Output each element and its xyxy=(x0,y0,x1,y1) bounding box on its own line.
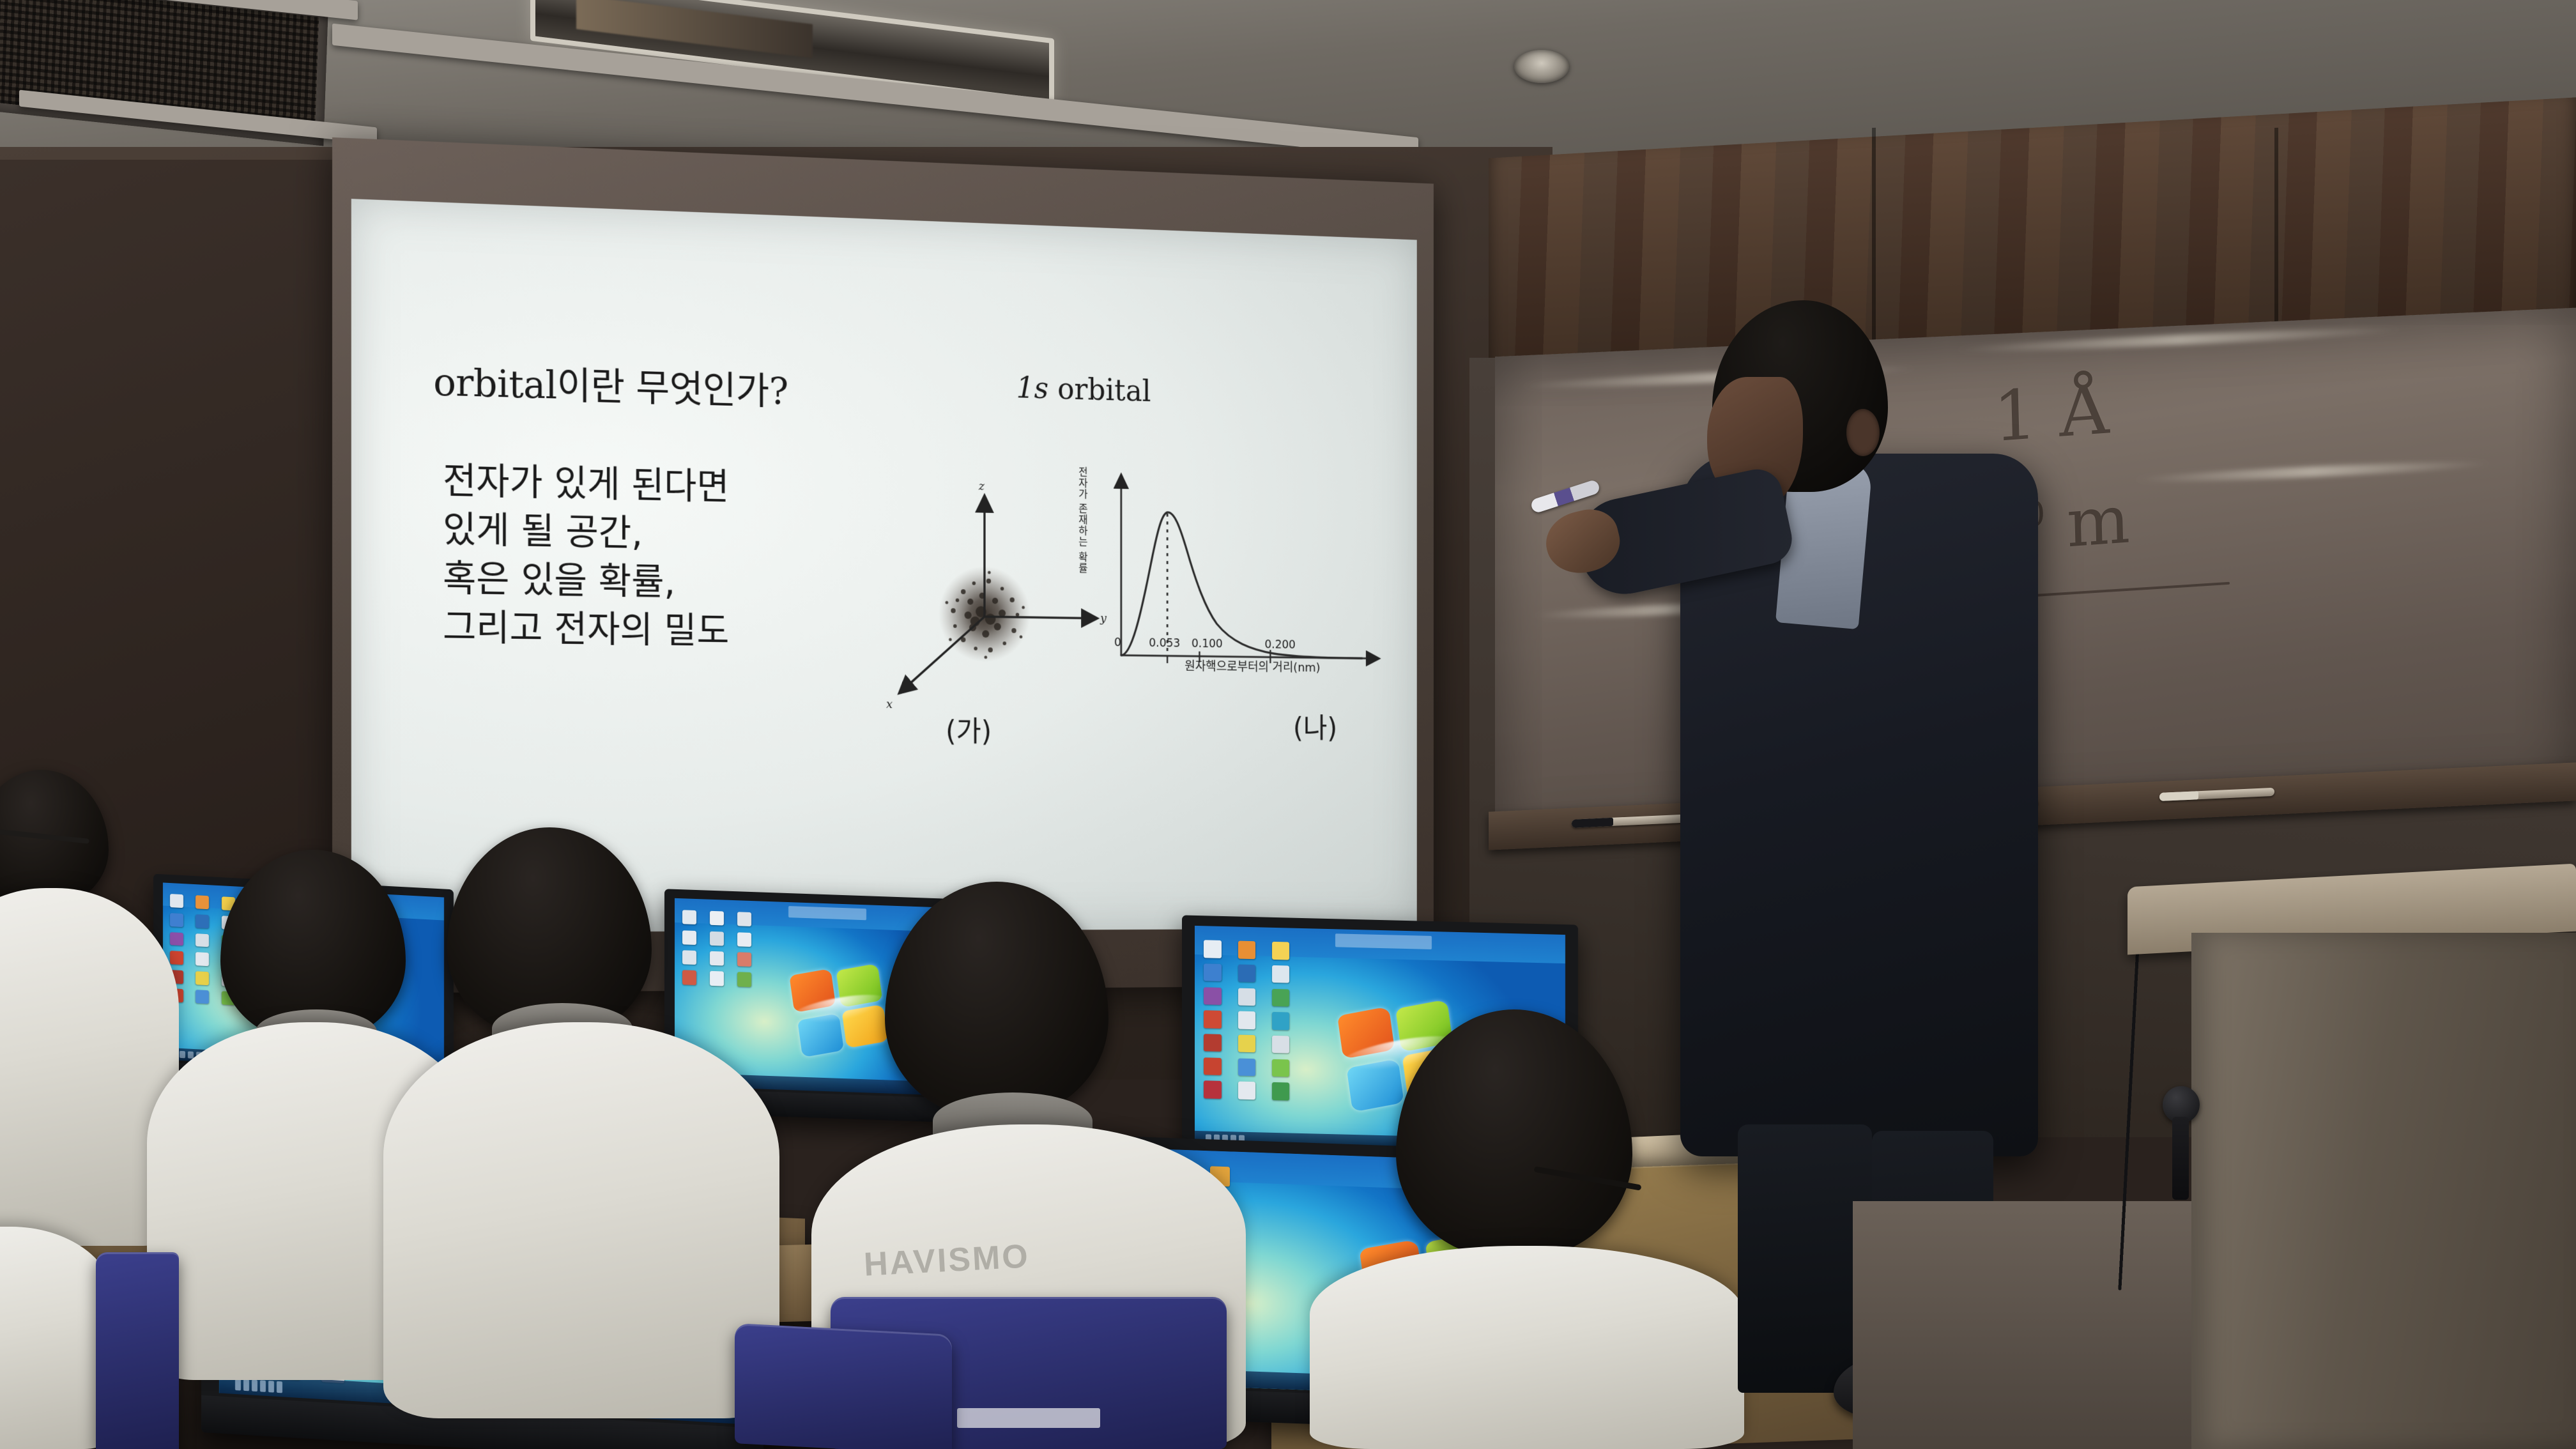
figure-probability-chart xyxy=(1080,453,1400,731)
figure-title-orbital-number: 1s xyxy=(1016,371,1049,406)
desktop-icon[interactable] xyxy=(1238,988,1255,1006)
desktop-icon[interactable] xyxy=(710,971,724,986)
desktop-icon[interactable] xyxy=(1272,942,1289,960)
svg-text:x: x xyxy=(886,698,893,711)
desktop-icon[interactable] xyxy=(737,952,751,967)
desktop-icon[interactable] xyxy=(195,895,209,909)
desktop-icon[interactable] xyxy=(170,894,183,908)
chair-tag xyxy=(957,1408,1100,1428)
desktop-icon[interactable] xyxy=(1238,941,1255,959)
desktop-icon[interactable] xyxy=(710,911,724,926)
desktop-icon[interactable] xyxy=(1204,1081,1221,1099)
desktop-icon[interactable] xyxy=(195,971,209,985)
desktop-icon[interactable] xyxy=(682,930,696,945)
desktop-icon[interactable] xyxy=(1238,1011,1255,1029)
desktop-icon[interactable] xyxy=(710,931,724,946)
figure-title-rest: orbital xyxy=(1048,371,1151,408)
desktop-icon[interactable] xyxy=(1204,987,1221,1005)
desktop-icon[interactable] xyxy=(737,972,751,987)
slide-body: 전자가 있게 된다면 있게 될 공간, 혹은 있을 확률, 그리고 전자의 밀도 xyxy=(443,456,729,655)
desktop-icon[interactable] xyxy=(1204,1034,1221,1052)
slide-body-line: 전자가 있게 된다면 xyxy=(443,456,729,511)
desktop-icon[interactable] xyxy=(1272,1059,1289,1077)
desktop-icon[interactable] xyxy=(1238,1082,1255,1100)
svg-text:z: z xyxy=(978,479,985,493)
windows-logo-icon xyxy=(790,960,889,1058)
desktop-icon[interactable] xyxy=(682,970,696,985)
slide-body-line: 있게 될 공간, xyxy=(443,505,729,560)
whiteboard-note-value-unit: m xyxy=(2044,480,2131,563)
chart-x-tick-2: 0.100 xyxy=(1192,637,1223,651)
light-slot-glow xyxy=(576,0,813,58)
desktop-icon[interactable] xyxy=(195,952,209,966)
whiteboard-note-angstrom: 1 Å xyxy=(1992,370,2110,458)
podium xyxy=(2191,933,2576,1449)
desktop-icon-grid[interactable] xyxy=(1200,933,1304,1142)
slide-body-line: 그리고 전자의 밀도 xyxy=(443,603,729,655)
whiteboard-glare xyxy=(2134,459,2492,485)
desktop-icon[interactable] xyxy=(682,950,696,965)
desktop-icon[interactable] xyxy=(1272,1036,1289,1054)
projected-slide: orbital이란 무엇인가? 전자가 있게 된다면 있게 될 공간, 혹은 있… xyxy=(351,199,1417,933)
slide-body-line: 혹은 있을 확률, xyxy=(443,554,729,607)
chair[interactable] xyxy=(96,1252,179,1449)
chair[interactable] xyxy=(735,1323,952,1449)
microphone-handle[interactable] xyxy=(2172,1117,2189,1200)
desktop-icon[interactable] xyxy=(170,951,183,965)
desktop-icon[interactable] xyxy=(1272,988,1289,1006)
chart-y-axis-label: 전자가 존재하는 확률 xyxy=(1075,466,1089,574)
chart-x-axis-label: 원자핵으로부터의 거리(nm) xyxy=(1184,656,1320,675)
chair-strap-label: HAVISMO xyxy=(862,1237,1031,1284)
desktop-icon[interactable] xyxy=(1204,1057,1221,1075)
figure-caption-b: (나) xyxy=(1293,706,1337,746)
leg xyxy=(1738,1124,1872,1393)
desktop-icon[interactable] xyxy=(195,990,209,1004)
torso xyxy=(1310,1246,1744,1449)
desktop-icon[interactable] xyxy=(1272,1082,1289,1100)
desktop-icon[interactable] xyxy=(1238,1035,1255,1053)
chart-x-tick-3: 0.200 xyxy=(1264,638,1295,651)
chart-x-tick-1: 0.053 xyxy=(1149,636,1180,650)
classroom-scene: 1 Å 1.6×10-10 m orbital이란 무엇인가? 전자가 있게 된… xyxy=(0,0,2576,1449)
torso xyxy=(383,1022,779,1418)
marker-cap xyxy=(1572,818,1613,828)
desktop-icon[interactable] xyxy=(170,913,183,927)
desktop-icon[interactable] xyxy=(710,951,724,966)
marker-cap xyxy=(2159,791,2198,801)
desktop-icon[interactable] xyxy=(1204,940,1221,958)
chart-x-tick-0: 0 xyxy=(1114,636,1121,649)
ceiling-downlight-icon xyxy=(1514,50,1569,83)
desktop-icon[interactable] xyxy=(737,932,751,947)
desktop-icon[interactable] xyxy=(195,933,209,947)
desktop-icon[interactable] xyxy=(170,932,183,946)
desktop-icon[interactable] xyxy=(1204,963,1221,981)
desktop-icon[interactable] xyxy=(682,910,696,924)
desktop-icon[interactable] xyxy=(1272,965,1289,983)
marker-pen[interactable] xyxy=(2159,788,2274,801)
figure-caption-a: (가) xyxy=(946,709,992,749)
figure-title: 1s orbital xyxy=(1016,371,1151,409)
slide-title: orbital이란 무엇인가? xyxy=(433,351,788,416)
desktop-icon[interactable] xyxy=(1272,1012,1289,1030)
desktop-icon[interactable] xyxy=(737,912,751,926)
probability-curve-svg xyxy=(1080,453,1400,731)
desktop-icon[interactable] xyxy=(1204,1011,1221,1029)
window-titlebar xyxy=(1335,934,1432,949)
desktop-icon[interactable] xyxy=(1238,1058,1255,1076)
desktop-icon[interactable] xyxy=(195,914,209,928)
marker-pen[interactable] xyxy=(1572,814,1693,828)
ear xyxy=(1846,409,1880,456)
desktop-icon[interactable] xyxy=(1238,965,1255,983)
